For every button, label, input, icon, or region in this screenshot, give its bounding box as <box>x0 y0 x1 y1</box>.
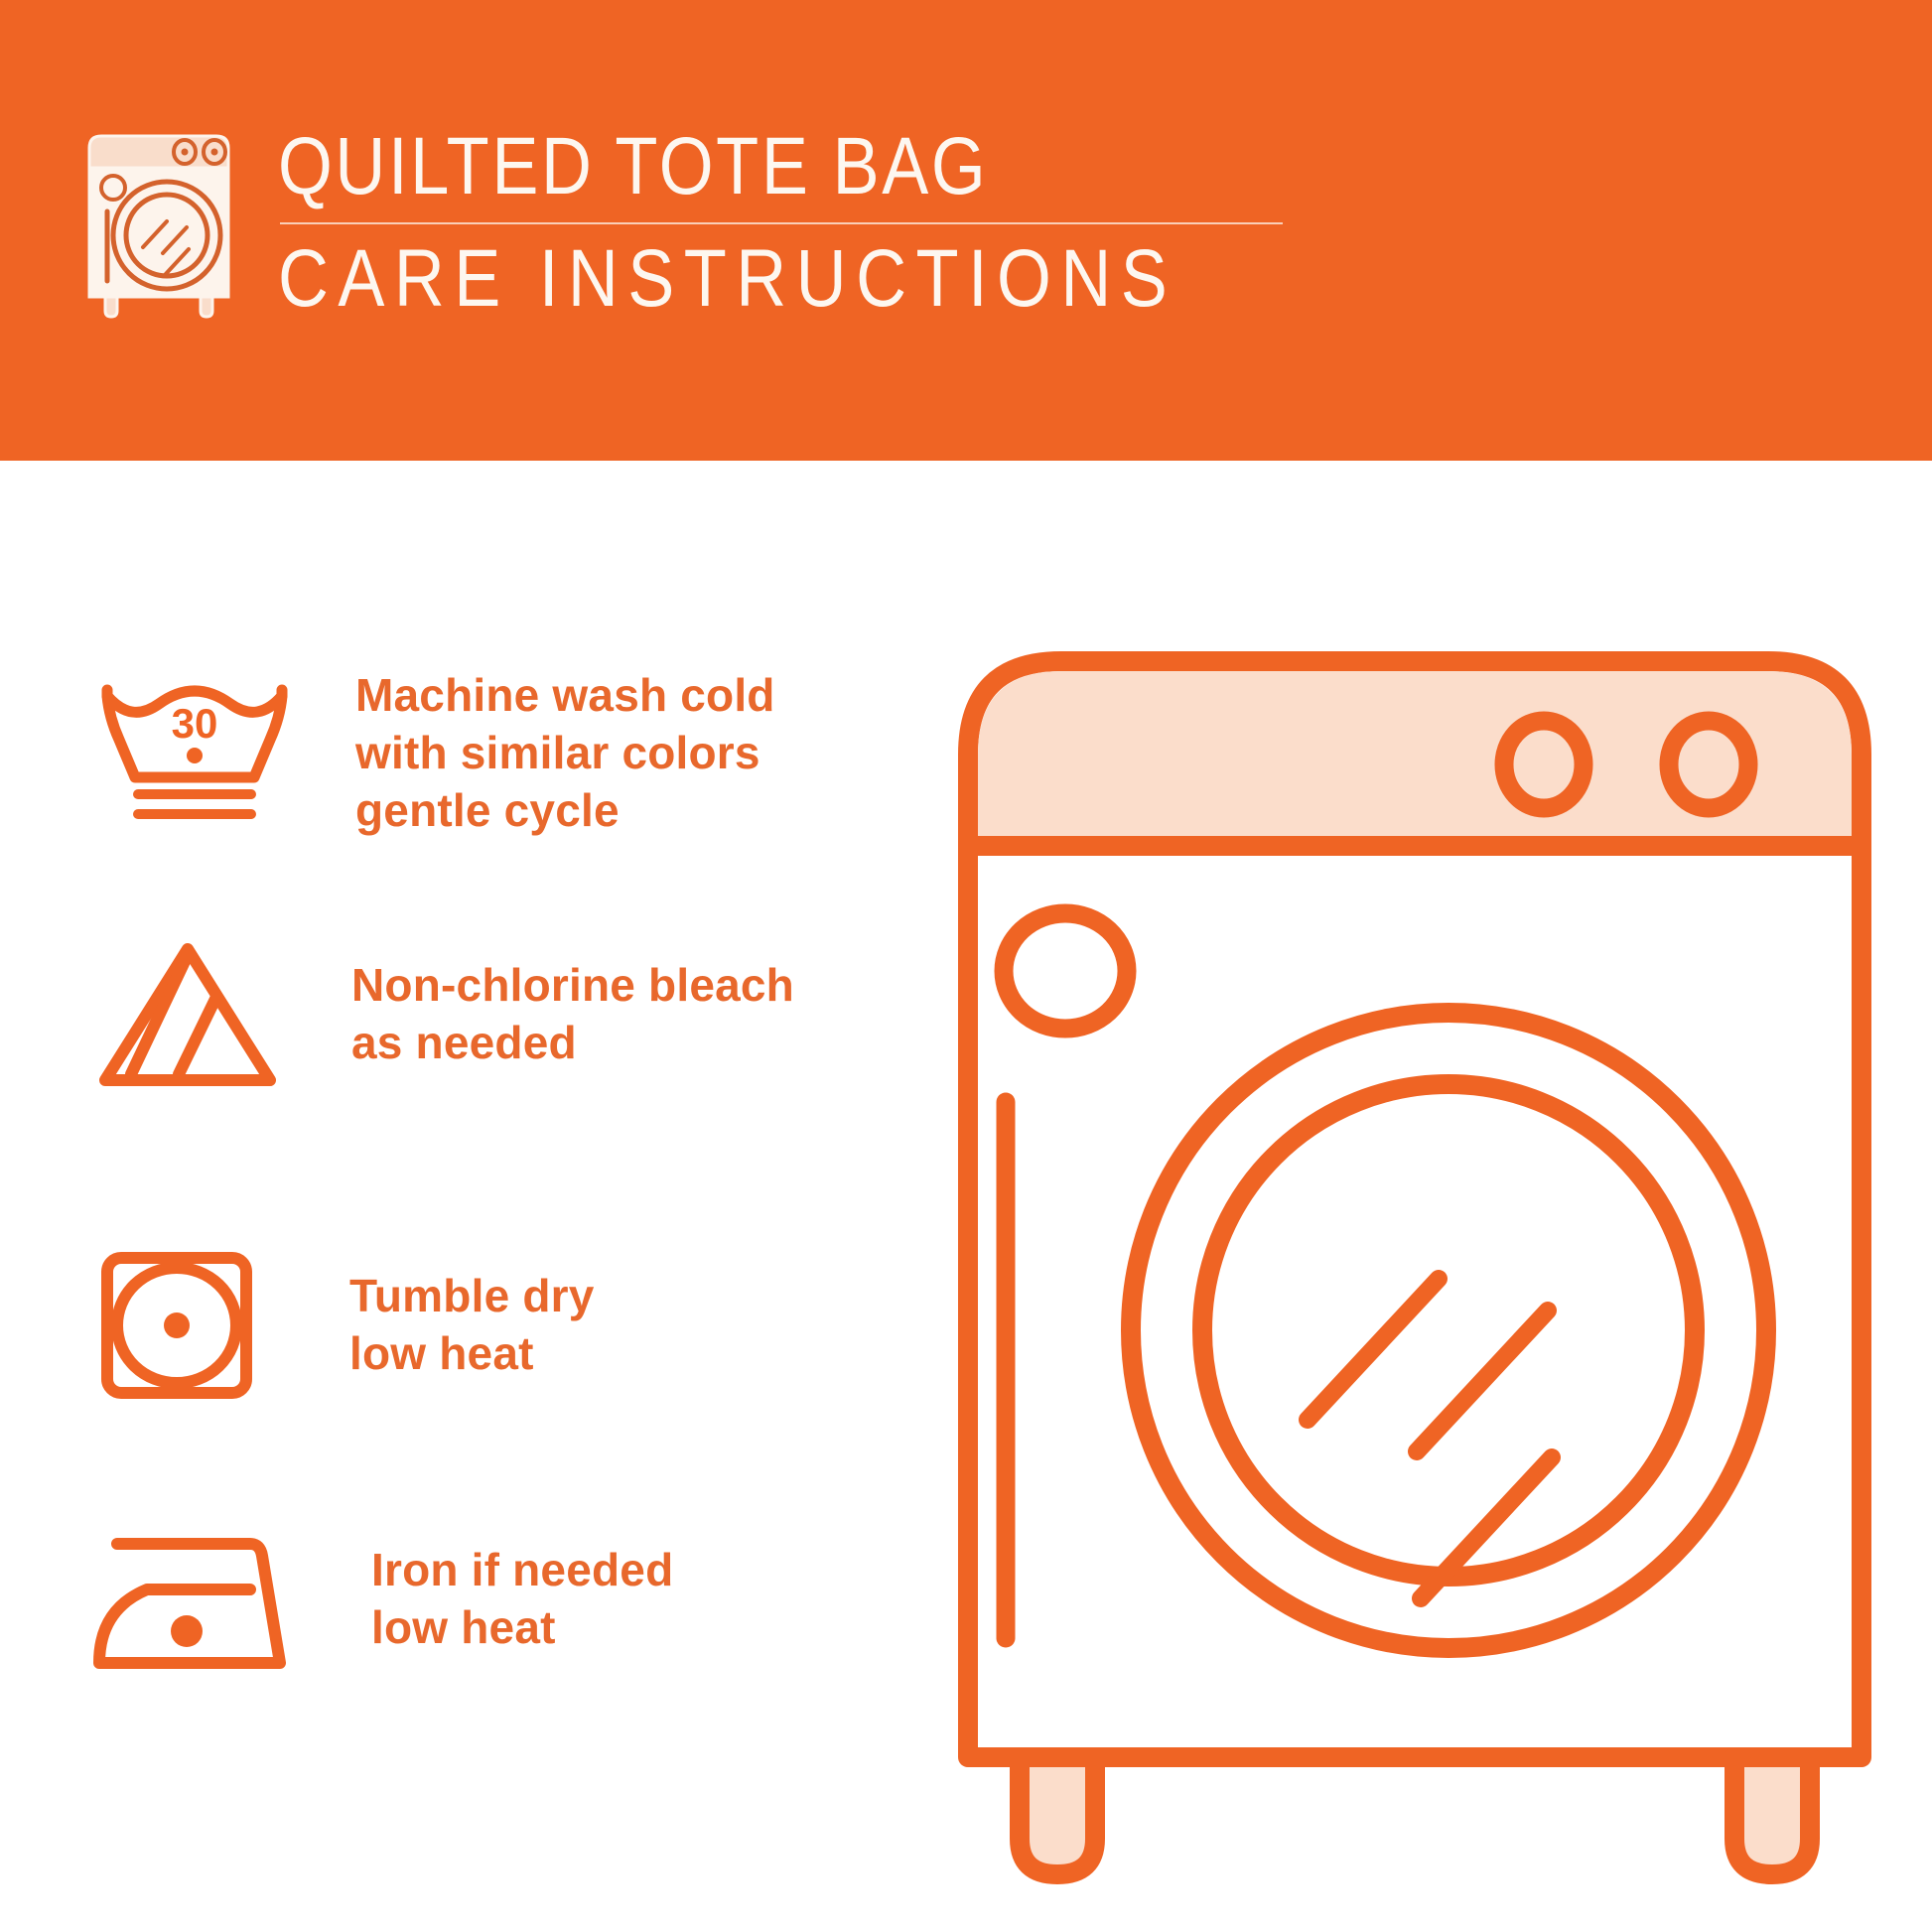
wash-temperature-value: 30 <box>172 700 218 747</box>
iron-low-heat-icon <box>91 1524 286 1675</box>
page-subtitle: CARE INSTRUCTIONS <box>278 238 1176 320</box>
wash-tub-30-gentle-icon: 30 <box>95 674 294 833</box>
page-title: QUILTED TOTE BAG <box>278 127 1176 207</box>
instruction-row-wash: 30 Machine wash cold with similar colors… <box>95 667 775 840</box>
instruction-row-tumble-dry: Tumble dry low heat <box>95 1246 595 1405</box>
non-chlorine-bleach-triangle-icon <box>95 935 280 1094</box>
instruction-label-wash: Machine wash cold with similar colors ge… <box>355 667 775 840</box>
knob-right <box>1669 721 1748 808</box>
washing-machine-icon <box>75 126 242 321</box>
instruction-label-bleach: Non-chlorine bleach as needed <box>351 957 794 1072</box>
tumble-dry-low-heat-icon <box>95 1246 258 1405</box>
instruction-row-bleach: Non-chlorine bleach as needed <box>95 935 794 1094</box>
leg-left <box>1020 1757 1095 1874</box>
washing-machine-illustration <box>958 635 1871 1886</box>
instruction-label-tumble-dry: Tumble dry low heat <box>349 1268 595 1383</box>
header-band: QUILTED TOTE BAG CARE INSTRUCTIONS <box>0 0 1932 461</box>
care-instructions-page: QUILTED TOTE BAG CARE INSTRUCTIONS 30 Ma… <box>0 0 1932 1932</box>
instruction-row-iron: Iron if needed low heat <box>91 1524 673 1675</box>
header-content: QUILTED TOTE BAG CARE INSTRUCTIONS <box>75 126 1323 321</box>
instruction-label-iron: Iron if needed low heat <box>371 1542 673 1657</box>
header-titles: QUILTED TOTE BAG CARE INSTRUCTIONS <box>278 127 1323 320</box>
leg-right <box>1734 1757 1810 1874</box>
title-divider <box>280 222 1283 224</box>
knob-left <box>1504 721 1584 808</box>
